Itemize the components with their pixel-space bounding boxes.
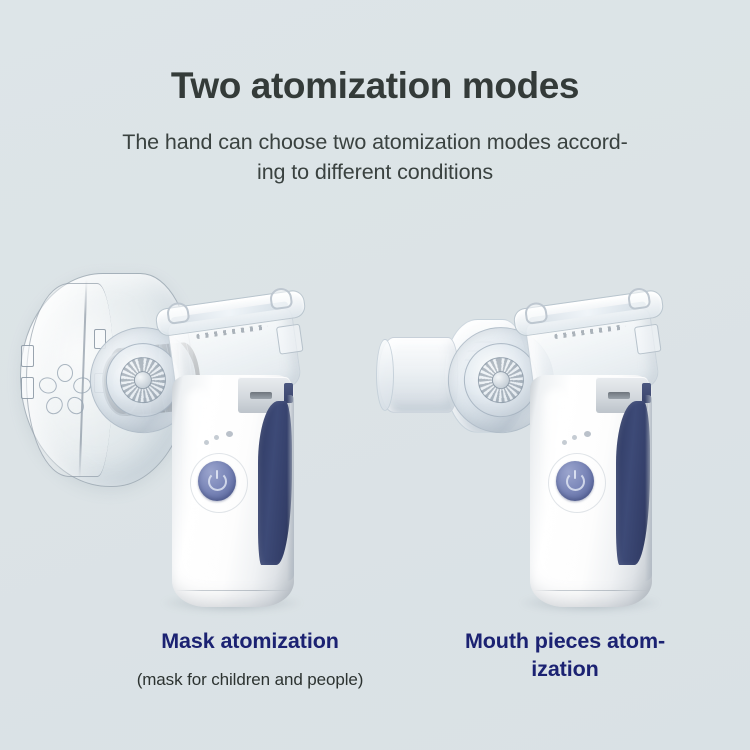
led-dot xyxy=(214,435,219,440)
page-title: Two atomization modes xyxy=(0,66,750,107)
header: Two atomization modes The hand can choos… xyxy=(0,0,750,188)
device-body xyxy=(172,375,294,607)
indicator-leds xyxy=(560,431,600,447)
led-dot xyxy=(562,440,567,445)
led-dot xyxy=(572,435,577,440)
caption-title-line-2: ization xyxy=(400,656,730,684)
subtitle-line-1: The hand can choose two atomization mode… xyxy=(95,127,655,158)
product-stage xyxy=(0,255,750,625)
power-icon xyxy=(566,472,585,491)
mask-vent-flower-icon xyxy=(44,361,84,401)
power-button[interactable] xyxy=(198,461,236,501)
power-button[interactable] xyxy=(556,461,594,501)
indicator-leds xyxy=(202,431,242,447)
device-body xyxy=(530,375,652,607)
cup-latch xyxy=(634,324,662,355)
mouthpiece-tip xyxy=(376,339,394,411)
led-dot xyxy=(204,440,209,445)
captions: Mask atomization (mask for children and … xyxy=(0,628,750,738)
mask-clip xyxy=(21,377,34,399)
nebulizer-device-with-mouthpiece xyxy=(370,255,730,625)
vent-petal xyxy=(57,364,73,382)
subtitle-line-2: ing to different conditions xyxy=(95,157,655,188)
led-dot xyxy=(584,431,591,437)
led-dot xyxy=(226,431,233,437)
mask-clip xyxy=(21,345,34,367)
nebulizer-device-with-mask xyxy=(12,255,372,625)
power-icon xyxy=(208,472,227,491)
caption-title-line-1: Mouth pieces atom- xyxy=(400,628,730,656)
grip-edge xyxy=(287,395,294,581)
caption-mouth-pieces-atomization: Mouth pieces atom- ization xyxy=(400,628,730,683)
page-subtitle: The hand can choose two atomization mode… xyxy=(95,127,655,188)
cup-latch xyxy=(276,324,304,355)
product-feature-page: Two atomization modes The hand can choos… xyxy=(0,0,750,750)
caption-title: Mouth pieces atom- ization xyxy=(400,628,730,683)
grip-edge xyxy=(645,395,652,581)
